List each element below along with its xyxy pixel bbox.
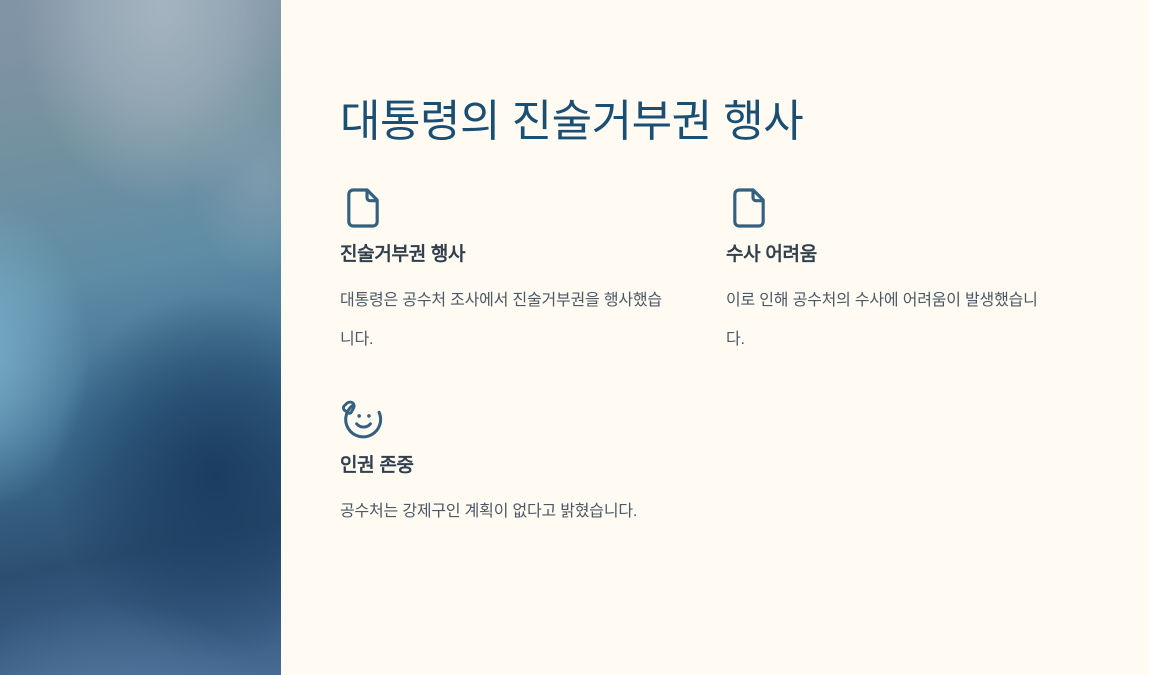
card-body: 이로 인해 공수처의 수사에 어려움이 발생했습니다. <box>726 281 1056 359</box>
side-gradient-panel <box>0 0 281 675</box>
card-body: 공수처는 강제구인 계획이 없다고 밝혔습니다. <box>340 492 670 531</box>
document-icon <box>340 185 386 231</box>
card-item: 수사 어려움 이로 인해 공수처의 수사에 어려움이 발생했습니다. <box>726 185 1066 359</box>
salute-face-icon <box>340 396 386 442</box>
card-heading: 진술거부권 행사 <box>340 243 680 268</box>
gradient-right-haze <box>0 0 281 675</box>
card-item: 진술거부권 행사 대통령은 공수처 조사에서 진술거부권을 행사했습니다. <box>340 185 680 359</box>
document-icon <box>726 185 772 231</box>
card-heading: 수사 어려움 <box>726 243 1066 268</box>
card-grid: 진술거부권 행사 대통령은 공수처 조사에서 진술거부권을 행사했습니다. 수사… <box>340 185 1100 531</box>
card-heading: 인권 존중 <box>340 454 680 479</box>
page-title: 대통령의 진술거부권 행사 <box>340 96 803 148</box>
slide-root: 대통령의 진술거부권 행사 진술거부권 행사 대통령은 공수처 조사에서 진술거… <box>0 0 1149 675</box>
card-body: 대통령은 공수처 조사에서 진술거부권을 행사했습니다. <box>340 281 670 359</box>
card-item: 인권 존중 공수처는 강제구인 계획이 없다고 밝혔습니다. <box>340 396 680 531</box>
content-area: 대통령의 진술거부권 행사 진술거부권 행사 대통령은 공수처 조사에서 진술거… <box>281 0 1149 675</box>
